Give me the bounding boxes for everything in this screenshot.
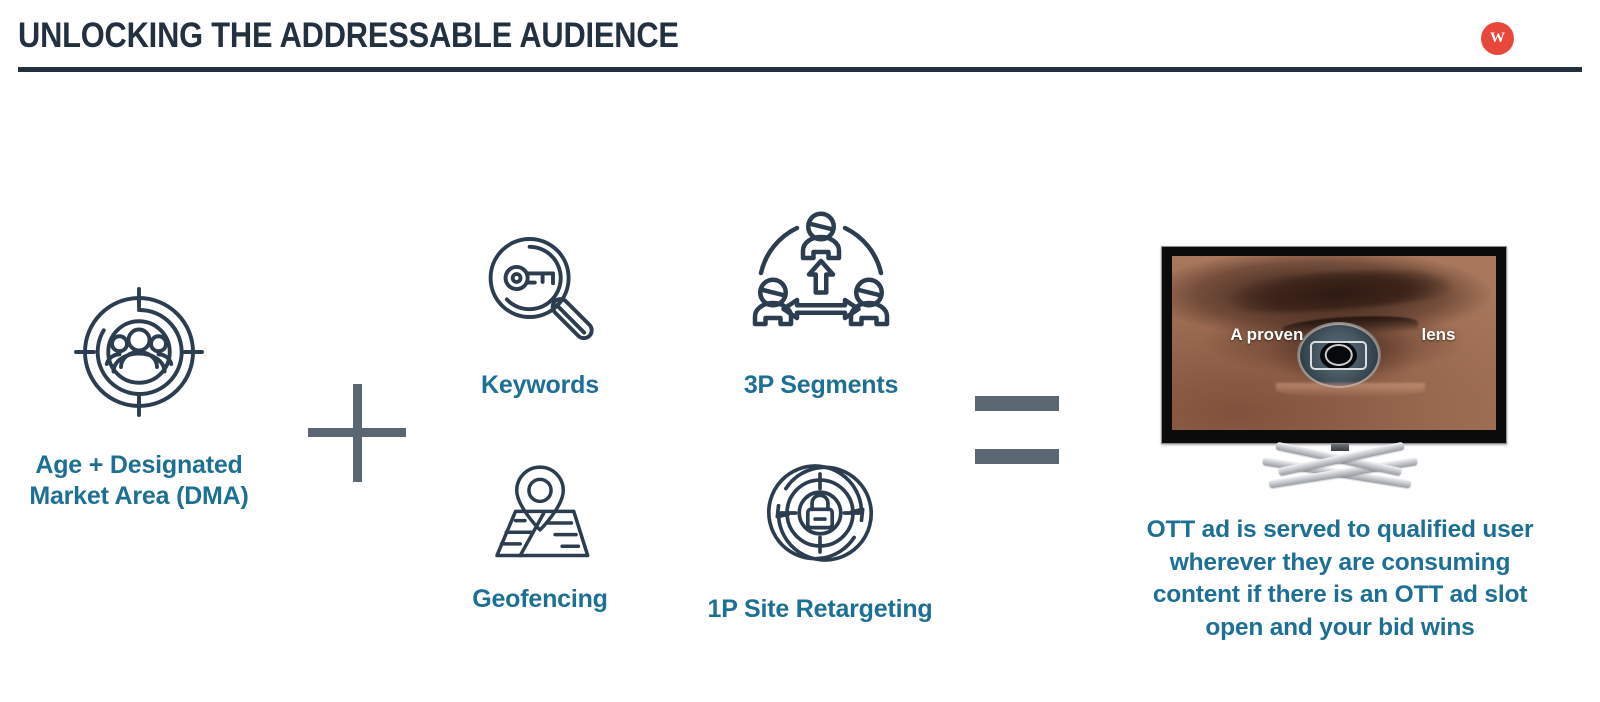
plus-operator-icon <box>308 384 406 482</box>
screen-text-left: A proven <box>1230 325 1303 345</box>
keywords-label: Keywords <box>450 370 630 401</box>
eyeball <box>1297 322 1381 388</box>
equals-bottom-bar <box>975 449 1059 464</box>
camera-lens-overlay-icon <box>1310 341 1367 370</box>
audience-target-icon <box>14 276 264 428</box>
magnifier-key-icon <box>450 224 630 358</box>
equals-operator-icon <box>975 396 1059 464</box>
television-screen: A proven lens <box>1172 256 1496 430</box>
page-header: UNLOCKING THE ADDRESSABLE AUDIENCE W <box>0 0 1600 80</box>
equals-top-bar <box>975 396 1059 411</box>
retargeting-label: 1P Site Retargeting <box>700 594 940 625</box>
addressable-term-1p-retargeting: 1P Site Retargeting <box>700 452 940 625</box>
brand-logo: W <box>1481 22 1514 55</box>
television-icon: A proven lens <box>1161 246 1507 444</box>
addressable-term-3p-segments: 3P Segments <box>726 206 916 401</box>
screen-text-right: lens <box>1421 325 1455 345</box>
geofencing-label: Geofencing <box>450 584 630 615</box>
addressable-term-geofencing: Geofencing <box>450 452 630 615</box>
result-television-group: A proven lens OTT ad is served to qualif… <box>1130 246 1550 444</box>
retarget-lock-icon <box>700 452 940 574</box>
plus-vertical-bar <box>353 384 362 482</box>
lower-eyelid-highlight <box>1276 383 1425 397</box>
dma-label: Age + Designated Market Area (DMA) <box>14 450 264 511</box>
map-pin-icon <box>450 452 630 566</box>
page-title: UNLOCKING THE ADDRESSABLE AUDIENCE <box>18 16 679 56</box>
television-stand <box>1227 449 1453 483</box>
addressable-term-dma: Age + Designated Market Area (DMA) <box>14 276 264 511</box>
three-people-network-icon <box>726 206 916 358</box>
addressable-term-keywords: Keywords <box>450 224 630 401</box>
result-caption: OTT ad is served to qualified user where… <box>1130 514 1550 644</box>
segments-label: 3P Segments <box>726 370 916 401</box>
header-divider <box>18 67 1582 72</box>
